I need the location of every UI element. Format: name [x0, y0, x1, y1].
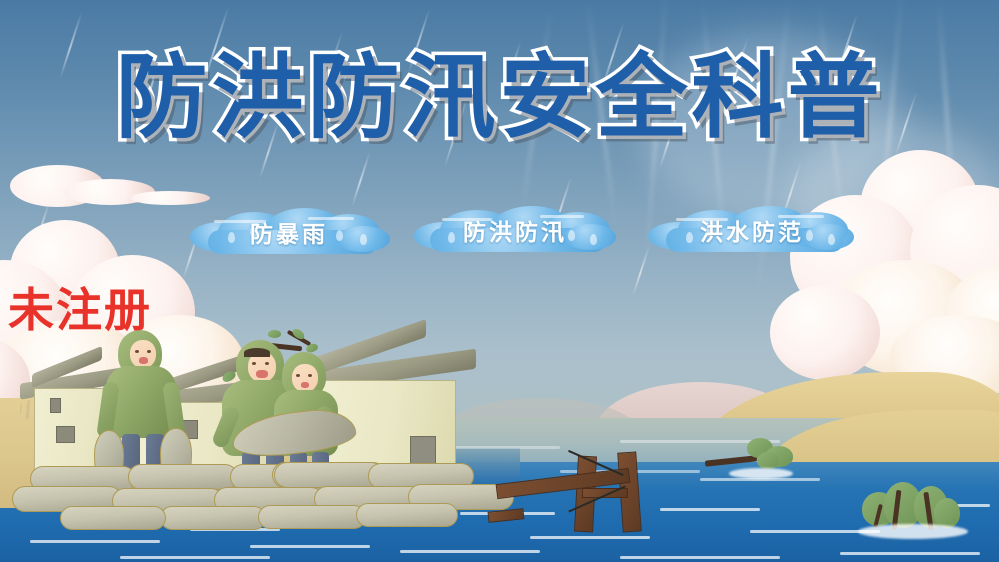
badge-label: 防洪防汛 [463, 213, 567, 247]
badge-hong-shui-fang-fan[interactable]: 洪水防范 [648, 206, 856, 254]
page-title: 防洪防汛安全科普 [0, 52, 999, 144]
badge-label: 洪水防范 [700, 213, 804, 247]
watermark-text: 未注册 [8, 274, 152, 340]
badge-fang-bao-yu[interactable]: 防暴雨 [188, 208, 390, 256]
poster-canvas: 防洪防汛安全科普 防暴雨 [0, 0, 999, 562]
cloud-cluster-right [770, 140, 999, 390]
badge-label: 防暴雨 [250, 215, 328, 249]
cloud-wisp-left [10, 165, 210, 225]
floating-bush [858, 480, 978, 542]
badge-fang-hong-fang-xun[interactable]: 防洪防汛 [412, 206, 618, 254]
floating-branch [705, 438, 815, 480]
